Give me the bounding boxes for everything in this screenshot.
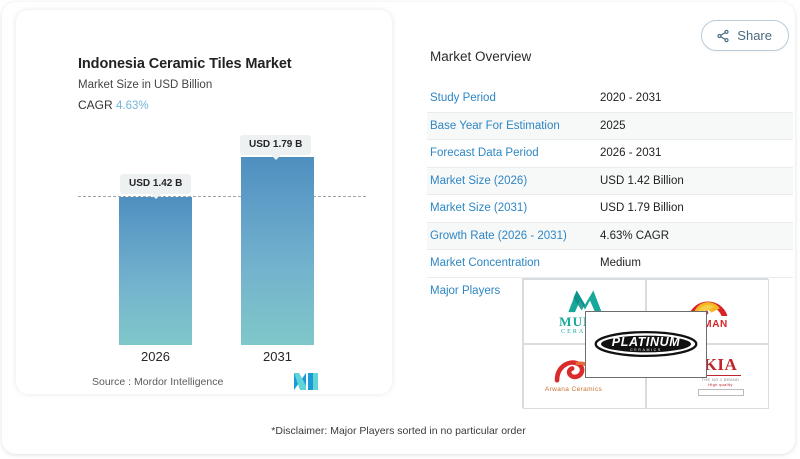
table-row: Study Period 2020 - 2031 (427, 85, 793, 113)
market-summary-card: Indonesia Ceramic Tiles Market Market Si… (2, 2, 795, 454)
table-cell-value: USD 1.42 Billion (600, 175, 684, 187)
table-cell-value: 2025 (600, 120, 626, 132)
bar-value-label-2031: USD 1.79 B (240, 135, 311, 155)
chart-source-label: Source : Mordor Intelligence (92, 376, 223, 388)
table-cell-value: 4.63% CAGR (600, 230, 669, 242)
major-players-row: Major Players MULIA CERAMICS (427, 278, 793, 418)
major-players-logo-grid: MULIA CERAMICS (522, 278, 768, 408)
major-players-disclaimer: *Disclaimer: Major Players sorted in no … (2, 425, 795, 437)
table-cell-key: Forecast Data Period (430, 147, 600, 159)
table-cell-value: Medium (600, 257, 641, 269)
market-overview-heading: Market Overview (430, 49, 531, 64)
bar-chart-plot: USD 1.42 B USD 1.79 B 2026 2031 (16, 10, 392, 394)
table-cell-value: USD 1.79 Billion (600, 202, 684, 214)
table-cell-value: 2026 - 2031 (600, 147, 661, 159)
chart-panel: Indonesia Ceramic Tiles Market Market Si… (16, 10, 392, 394)
major-player-sub-platinum: CERAMICS (592, 349, 700, 353)
bar-2031 (241, 157, 314, 345)
table-row: Market Size (2031) USD 1.79 Billion (427, 195, 793, 223)
share-button-label: Share (737, 28, 772, 43)
table-cell-key: Study Period (430, 92, 600, 104)
bar-2026 (119, 197, 192, 345)
major-player-name-arwana: Arwana Ceramics (545, 387, 602, 394)
table-cell-key: Base Year For Estimation (430, 120, 600, 132)
table-row: Market Concentration Medium (427, 250, 793, 278)
x-axis-tick-2026: 2026 (119, 349, 192, 364)
overview-panel: Share Market Overview Study Period 2020 … (417, 2, 795, 454)
major-player-name-platinum: PLATINUM (592, 336, 700, 349)
page-root: Indonesia Ceramic Tiles Market Market Si… (0, 0, 800, 459)
major-players-label: Major Players (430, 285, 500, 297)
bar-value-label-2026: USD 1.42 B (120, 174, 191, 194)
share-icon (716, 29, 730, 43)
table-cell-key: Market Size (2031) (430, 202, 600, 214)
table-cell-key: Market Concentration (430, 257, 600, 269)
table-cell-key: Growth Rate (2026 - 2031) (430, 230, 600, 242)
x-axis-tick-2031: 2031 (241, 349, 314, 364)
mordor-intelligence-logo-icon (294, 373, 318, 390)
table-cell-key: Market Size (2026) (430, 175, 600, 187)
market-overview-table: Study Period 2020 - 2031 Base Year For E… (427, 85, 793, 418)
table-row: Base Year For Estimation 2025 (427, 113, 793, 141)
kia-tagline: High quality (698, 383, 744, 387)
table-row: Market Size (2026) USD 1.42 Billion (427, 168, 793, 196)
table-row: Forecast Data Period 2026 - 2031 (427, 140, 793, 168)
major-player-cell-platinum: PLATINUM CERAMICS (585, 311, 707, 378)
table-cell-value: 2020 - 2031 (600, 92, 661, 104)
share-button[interactable]: Share (701, 20, 789, 51)
table-row: Growth Rate (2026 - 2031) 4.63% CAGR (427, 223, 793, 251)
